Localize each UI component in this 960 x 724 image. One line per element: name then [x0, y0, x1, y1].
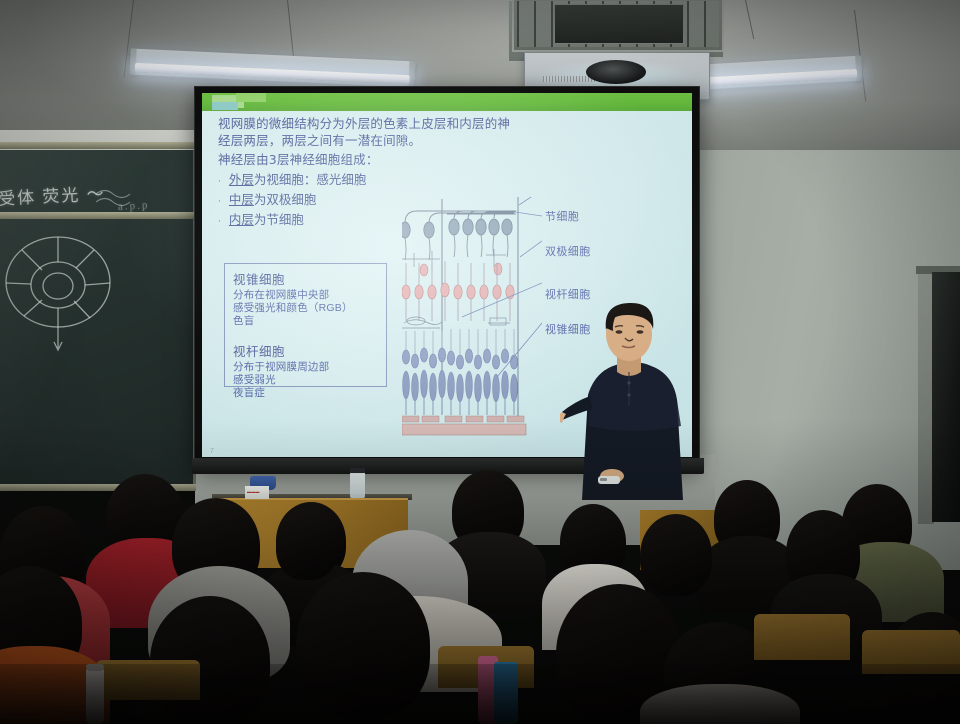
- rod-cell-line: 夜盲症: [225, 387, 386, 400]
- rod-cell-line: 分布于视网膜周边部: [225, 361, 386, 374]
- slide-paragraph-line: 视网膜的微细结构分为外层的色素上皮层和内层的神: [218, 115, 684, 132]
- student-head: [640, 514, 712, 596]
- projector-lens: [586, 60, 646, 84]
- bullet-text: 为节细胞: [254, 212, 304, 227]
- projector-security-cage: [512, 0, 724, 52]
- cone-cell-heading: 视锥细胞: [225, 264, 386, 289]
- bullet-keyword: 内层: [229, 212, 254, 227]
- slide-header-band: [202, 93, 692, 111]
- lamp-endcap: [408, 61, 415, 87]
- blackboard: 受体 荧光 ～ a.p.p: [0, 150, 200, 510]
- cone-cell-line: 感受强光和颜色（RGB）: [225, 302, 386, 315]
- rod-cell-heading: 视杆细胞: [225, 336, 386, 361]
- slide-paragraph-line: 神经层由3层神经细胞组成：: [218, 149, 684, 168]
- blackboard-rail-top: [0, 142, 196, 149]
- cage-dark-interior: [554, 4, 684, 44]
- bullet-marker: ·: [218, 213, 221, 231]
- student-head: [276, 508, 338, 580]
- retina-diagram: 节细胞 双极细胞 视杆细胞 视锥细胞: [402, 197, 542, 442]
- bullet-marker: ·: [218, 173, 221, 191]
- slide-paragraph-line: 经层两层，两层之间有一潜在间隙。: [218, 132, 684, 149]
- bullet-text: 为视细胞：感光细胞: [254, 172, 367, 187]
- bullet-keyword: 中层: [229, 192, 254, 207]
- slide-infobox: 视锥细胞 分布在视网膜中央部 感受强光和颜色（RGB） 色盲 视杆细胞 分布于视…: [224, 263, 387, 387]
- slide-accent-square-2: [236, 93, 266, 102]
- lecture-hall-photo: MITSUBISHI 受体 荧光 ～ a.p.p: [0, 0, 960, 724]
- bullet-text: 为双极细胞: [254, 192, 317, 207]
- infobox-spacer: [225, 328, 386, 336]
- slide-accent-square-3: [212, 102, 238, 110]
- diagram-label-bipolar: 双极细胞: [545, 243, 591, 259]
- rod-cell-line: 感受弱光: [225, 374, 386, 387]
- blackboard-glare: [0, 150, 196, 490]
- bullet-marker: ·: [218, 193, 221, 211]
- slide-bullet: · 外层为视细胞：感光细胞: [218, 168, 684, 191]
- bullet-keyword: 外层: [229, 172, 254, 187]
- diagram-label-ganglion: 节细胞: [545, 208, 579, 224]
- retina-diagram-svg: [402, 197, 542, 442]
- front-row-shadow: [0, 664, 960, 724]
- cone-cell-line: 分布在视网膜中央部: [225, 289, 386, 302]
- chair-back: [754, 614, 850, 660]
- slide-page-number: 7: [210, 448, 214, 455]
- audience: [0, 470, 960, 724]
- cone-cell-line: 色盲: [225, 315, 386, 328]
